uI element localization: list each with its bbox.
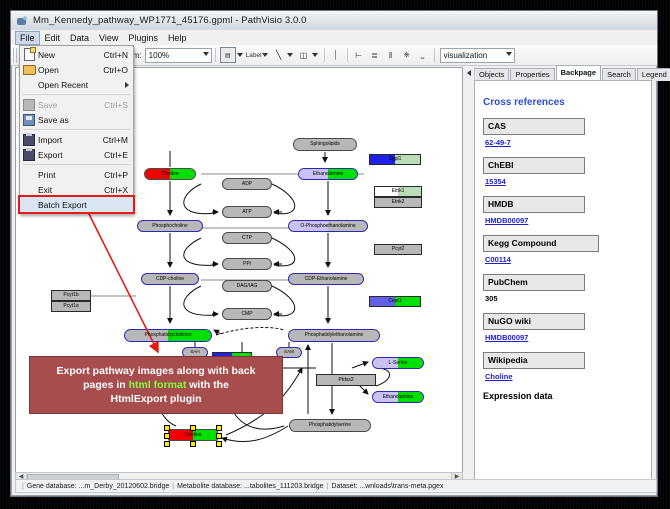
xref-value-chebi[interactable]: 15354 [485,177,651,186]
submenu-arrow-icon [125,82,129,88]
node-o-phosphoethanolamine[interactable]: O-Phosphoethanolamine [288,220,368,232]
toolbar-separator-3 [347,48,348,62]
status-metabolite-database: Metabolite database: ...tabolites_111203… [177,483,323,490]
label-button[interactable]: Label [246,52,262,59]
callout-line2-highlight: html format [129,379,187,391]
save-icon [20,97,38,112]
menu-help[interactable]: Help [163,31,192,45]
side-panel-tabs: Objects Properties Backpage Search Legen… [474,67,653,81]
node-sphingolipids[interactable]: Sphingolipids [293,138,357,151]
gene-pcyt1b[interactable]: Pcyt1b [51,290,91,301]
blank-icon [20,77,38,92]
chevron-right-icon[interactable] [467,70,471,76]
status-separator: | [172,483,174,490]
xref-db-pubchem: PubChem [483,274,585,291]
callout-line-2: pages in html format with the [83,378,229,392]
save-as-icon [20,112,38,127]
visualization-value: visualization [444,51,488,60]
xref-db-nugo: NuGO wiki [483,313,585,330]
menu-item-batch-export[interactable]: Batch Export [20,197,133,212]
menu-file[interactable]: File [15,31,40,45]
menu-plugins[interactable]: Plugins [123,31,163,45]
toolbar-grip-1[interactable] [13,48,18,63]
gene-cept1[interactable]: Cept1 [369,296,421,307]
node-ppi[interactable]: PPi [222,258,272,270]
order-icon[interactable]: ⎵ [416,48,430,62]
menu-separator-3 [23,164,130,165]
gene-sgpl1[interactable]: Sgpl1 [369,154,421,165]
menu-data[interactable]: Data [65,31,94,45]
pathvisio-icon [16,15,28,27]
toolbar-separator-4 [434,48,435,62]
selection-handle-e[interactable] [216,433,222,439]
menu-separator-1 [23,94,130,95]
file-menu-dropdown[interactable]: New Ctrl+N Open Ctrl+O Open Recent Save … [19,45,134,214]
label-dropdown-icon[interactable] [262,53,268,57]
blank-icon [20,197,38,212]
xref-value-hmdb[interactable]: HMDB00097 [485,216,651,225]
node-cdp-choline[interactable]: CDP-choline [141,273,199,285]
annotation-callout: Export pathway images along with back pa… [29,356,283,414]
xref-value-pubchem: 305 [485,294,651,303]
group-icon[interactable]: ⎈ [400,48,414,62]
node-ctp[interactable]: CTP [222,232,272,244]
xref-db-hmdb: HMDB [483,196,585,213]
gene-pcyt2[interactable]: Pcyt2 [374,244,422,255]
status-bar: | Gene database: ...m_Derby_20120602.bri… [15,479,657,493]
status-dataset: Dataset: ...wnloads\trans-meta.pgex [331,483,443,490]
align-left-icon[interactable]: ⊢ [352,48,366,62]
node-cdp-ethanolamine[interactable]: CDP-Ethanolamine [288,273,364,285]
node-phosphatidylcholines[interactable]: Phosphatidylcholines [124,329,212,342]
pathvisio-window: Mm_Kennedy_pathway_WP1771_45176.gpml - P… [10,10,658,497]
node-ethanolamine-bottom[interactable]: Ethanolamine [372,391,424,403]
status-gene-database: Gene database: ...m_Derby_20120602.bridg… [27,483,169,490]
node-ethanolamine-top[interactable]: Ethanolamine [298,168,358,180]
xref-db-kegg: Kegg Compound [483,235,599,252]
open-folder-icon [20,62,38,77]
zoom-combo[interactable]: 100% [145,48,212,63]
side-panel: Objects Properties Backpage Search Legen… [466,67,653,483]
xref-value-cas[interactable]: 62-49-7 [485,138,651,147]
selection-handle-nw[interactable] [164,425,170,431]
shape-dropdown-icon[interactable] [312,53,318,57]
gene-ptdss2[interactable]: Ptdss2 [316,374,376,386]
tab-backpage[interactable]: Backpage [556,65,601,81]
chevron-down-icon [203,52,209,56]
window-title: Mm_Kennedy_pathway_WP1771_45176.gpml - P… [33,15,307,26]
menu-item-print[interactable]: Print Ctrl+P [20,167,133,182]
xref-db-wikipedia: Wikipedia [483,352,585,369]
node-phosphocholine[interactable]: Phosphocholine [137,220,203,232]
shape-icon[interactable]: ◫ [297,48,311,62]
menu-edit[interactable]: Edit [40,31,66,45]
gene-etnk1[interactable]: Etnk1 [374,186,422,197]
title-bar: Mm_Kennedy_pathway_WP1771_45176.gpml - P… [11,11,657,31]
selection-handle-n[interactable] [190,425,196,431]
node-l-serine[interactable]: L-Serine [372,357,424,369]
line-dropdown-icon[interactable] [287,53,293,57]
gene-pcyt1a[interactable]: Pcyt1a [51,301,91,312]
selection-handle-ne[interactable] [216,425,222,431]
menu-bar: File Edit Data View Plugins Help [11,30,657,46]
status-separator: | [327,483,329,490]
menu-item-new[interactable]: New Ctrl+N [20,47,133,62]
anchor-icon[interactable]: ⏐ [329,48,343,62]
callout-line2-post: with the [186,379,229,391]
blank-icon [20,182,38,197]
node-dag[interactable]: DAG/IAG [222,280,272,292]
chevron-down-icon [506,52,512,56]
export-icon [20,147,38,162]
xref-db-cas: CAS [483,118,585,135]
status-separator: | [22,483,24,490]
screenshot-frame: Mm_Kennedy_pathway_WP1771_45176.gpml - P… [0,0,670,509]
new-file-icon [20,47,38,62]
import-icon [20,132,38,147]
callout-line-1: Export pathway images along with back [57,364,256,378]
selection-handle-s[interactable] [190,441,196,447]
callout-line2-pre: pages in [83,379,129,391]
menu-item-open-recent[interactable]: Open Recent [20,77,133,92]
menu-view[interactable]: View [94,31,123,45]
datanode-icon[interactable]: ▤ [220,47,236,63]
cross-references-heading: Cross references [483,97,651,108]
align-center-icon[interactable]: ≣ [368,48,382,62]
node-choline-top[interactable]: Choline [144,168,196,180]
gene-etnk2[interactable]: Etnk2 [374,197,422,208]
zoom-value: 100% [149,51,169,60]
backpage-content: Cross references CAS 62-49-7 ChEBI 15354… [474,80,652,483]
xref-value-kegg[interactable]: C00114 [485,255,651,264]
node-cmp[interactable]: CMP [222,308,272,320]
expression-data-heading: Expression data [483,391,651,401]
selection-handle-se[interactable] [216,441,222,447]
datanode-dropdown-icon[interactable] [237,53,243,57]
node-adp[interactable]: ADP [222,178,272,190]
xref-value-wikipedia[interactable]: Choline [485,372,651,381]
node-phosphatidylethanolamine[interactable]: Phosphatidylethanolamine [288,329,380,342]
toolbar-separator-1 [215,48,216,62]
callout-line-3: HtmlExport plugin [111,392,202,406]
selection-handle-sw[interactable] [164,441,170,447]
menu-item-open[interactable]: Open Ctrl+O [20,62,133,77]
menu-item-save: Save Ctrl+S [20,97,133,112]
line-icon[interactable]: ╲ [272,48,286,62]
node-atp[interactable]: ATP [222,206,272,218]
menu-item-save-as[interactable]: Save as [20,112,133,127]
xref-db-chebi: ChEBI [483,157,585,174]
xref-value-nugo[interactable]: HMDB00097 [485,333,651,342]
distribute-icon[interactable]: ‖ [384,48,398,62]
menu-item-import[interactable]: Import Ctrl+M [20,132,133,147]
menu-separator-2 [23,129,130,130]
menu-item-exit[interactable]: Exit Ctrl+X [20,182,133,197]
blank-icon [20,167,38,182]
menu-item-export[interactable]: Export Ctrl+E [20,147,133,162]
node-phosphatidylserine[interactable]: Phosphatidylserine [289,419,371,432]
visualization-combo[interactable]: visualization [440,48,515,63]
toolbar-separator-2 [324,48,325,62]
selection-handle-w[interactable] [164,433,170,439]
